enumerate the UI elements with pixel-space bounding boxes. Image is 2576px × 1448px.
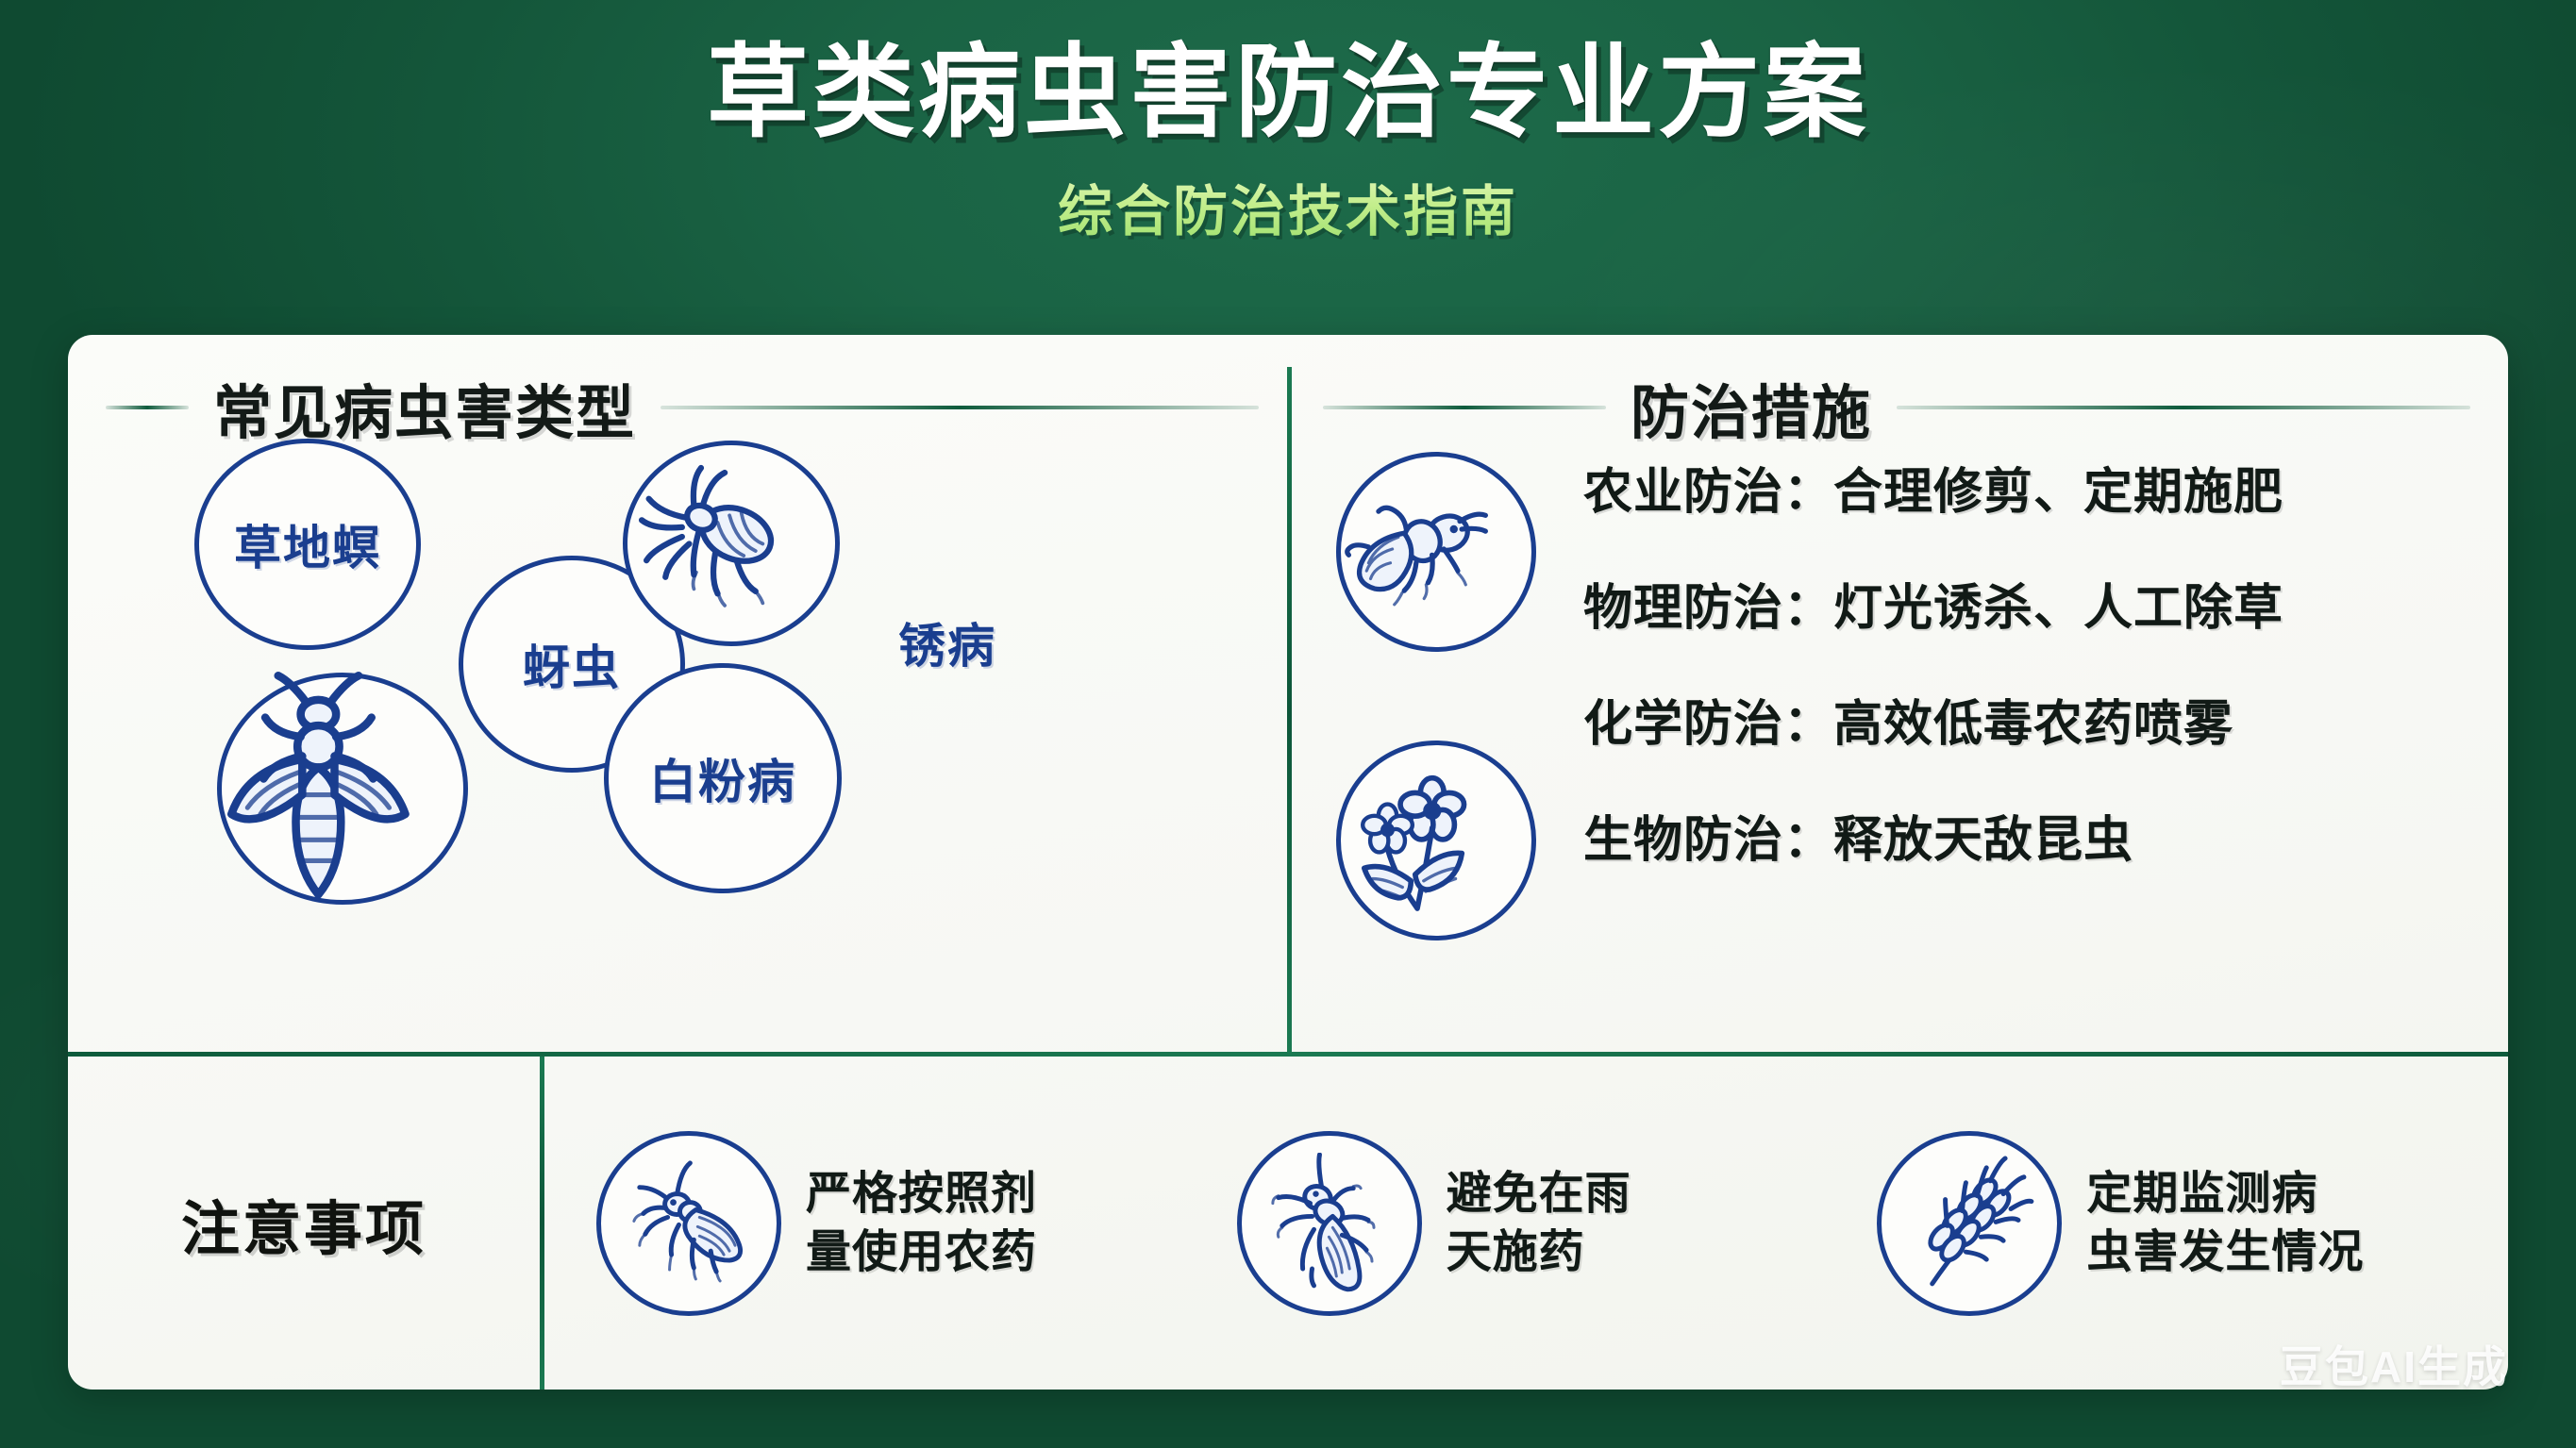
notes-group: 严格按照剂 量使用农药: [559, 1057, 2508, 1390]
pest-bubble-powderymildew[interactable]: 白粉病: [604, 663, 842, 893]
note-text-monitoring: 定期监测病 虫害发生情况: [2086, 1165, 2364, 1281]
note-text-rain: 避免在雨 天施药: [1447, 1165, 1631, 1281]
pest-label-aphid: 蚜虫: [523, 630, 621, 698]
wasp-icon: [222, 666, 463, 912]
leafhopper-icon: [1237, 1131, 1422, 1316]
note-line-2: 量使用农药: [806, 1227, 1037, 1277]
page-subtitle: 综合防治技术指南: [0, 167, 2576, 246]
section-heading-measures: 防治措施: [1323, 365, 2470, 450]
note-text-dosage: 严格按照剂 量使用农药: [806, 1165, 1037, 1281]
flower-plant-icon: [1341, 764, 1531, 918]
pest-label-powderymildew: 白粉病: [649, 744, 796, 812]
notes-heading: 注意事项: [68, 1057, 540, 1390]
wheat-icon: [1877, 1131, 2062, 1316]
measure-icon-circle-flower[interactable]: [1336, 741, 1536, 940]
pest-bubble-thrips[interactable]: [623, 441, 840, 646]
heading-rule-left: [106, 406, 189, 409]
poster-header: 草类病虫害防治专业方案 综合防治技术指南: [0, 0, 2576, 330]
pest-bubble-group: 草地螟: [68, 433, 1287, 1046]
poster-background: 草类病虫害防治专业方案 综合防治技术指南 常见病虫害类型 草地螟: [0, 0, 2576, 1448]
heading-rule-left-2: [1323, 406, 1606, 409]
measure-row-chemical: 化学防治：高效低毒农药喷雾: [1583, 684, 2480, 755]
measure-icon-circle-insect[interactable]: [1336, 452, 1536, 652]
note-line-1: 定期监测病: [2086, 1169, 2317, 1219]
pest-bubble-grassmoth[interactable]: 草地螟: [194, 439, 421, 650]
note-line-2: 天施药: [1447, 1227, 1585, 1277]
note-line-1: 严格按照剂: [806, 1169, 1037, 1219]
pest-label-grassmoth: 草地螟: [234, 510, 381, 578]
pest-bubble-wasp[interactable]: [217, 673, 468, 905]
content-card: 常见病虫害类型 草地螟: [68, 335, 2508, 1390]
measure-row-physical: 物理防治：灯光诱杀、人工除草: [1583, 568, 2480, 639]
thrips-icon: [627, 458, 835, 629]
measure-row-agricultural: 农业防治：合理修剪、定期施肥: [1583, 452, 2480, 523]
heading-rule-right-2: [1897, 406, 2470, 409]
measure-row-biological: 生物防治：释放天敌昆虫: [1583, 800, 2480, 871]
note-line-2: 虫害发生情况: [2086, 1227, 2364, 1277]
measures-group: 农业防治：合理修剪、定期施肥 物理防治：灯光诱杀、人工除草 化学防治：高效低毒农…: [1323, 439, 2484, 1042]
watermark: 豆包AI生成: [2280, 1333, 2508, 1395]
divider-vertical-main: [1287, 367, 1292, 1054]
note-item-monitoring[interactable]: 定期监测病 虫害发生情况: [1877, 1131, 2476, 1316]
section-heading-measures-label: 防治措施: [1631, 365, 1872, 450]
beetle-icon: [596, 1131, 781, 1316]
measure-text-list: 农业防治：合理修剪、定期施肥 物理防治：灯光诱杀、人工除草 化学防治：高效低毒农…: [1583, 439, 2480, 1033]
pest-label-rust: 锈病: [898, 608, 996, 676]
measure-icon-column: [1323, 448, 1559, 1014]
divider-vertical-notes: [540, 1057, 544, 1390]
note-item-rain[interactable]: 避免在雨 天施药: [1237, 1131, 1836, 1316]
page-title: 草类病虫害防治专业方案: [0, 36, 2576, 150]
note-line-1: 避免在雨: [1447, 1169, 1631, 1219]
heading-rule-right: [661, 406, 1259, 409]
note-item-dosage[interactable]: 严格按照剂 量使用农药: [596, 1131, 1196, 1316]
aphid-insect-icon: [1341, 490, 1531, 613]
